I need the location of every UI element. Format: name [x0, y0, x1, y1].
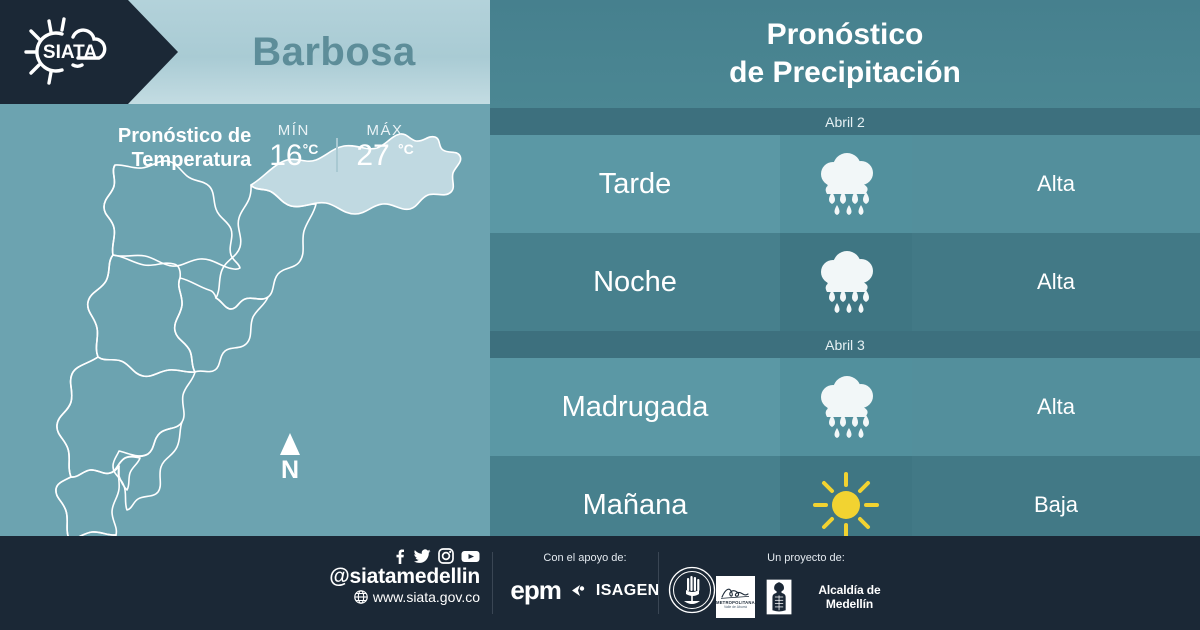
- area-metropolitana-logo: METROPOLITANA Valle de Aburrá: [716, 576, 755, 618]
- project-block: Un proyecto de: METROPOLITANA Valle de A…: [716, 552, 896, 619]
- universidad-de-medellin-seal: [668, 566, 716, 614]
- probability-label: Alta: [912, 135, 1200, 233]
- forecast-title-line2: de Precipitación: [729, 56, 961, 89]
- city-title: Barbosa: [178, 0, 490, 104]
- temperature-max-unit: °C: [398, 141, 414, 157]
- alcaldia-emblem-icon: [765, 575, 793, 619]
- probability-label: Alta: [912, 233, 1200, 331]
- isagen-mark-icon: [571, 583, 586, 598]
- forecast-title-line1: Pronóstico: [767, 18, 924, 51]
- forecast-row-tarde[interactable]: Tarde: [490, 135, 1200, 233]
- forecast-title: Pronóstico de Precipitación: [490, 0, 1200, 108]
- temperature-max-value: 27 °C: [356, 139, 413, 172]
- left-panel: SIATA Barbosa Pronóstico de Temperatura …: [0, 0, 490, 536]
- alcaldia-label: Alcaldía de Medellín: [803, 583, 896, 611]
- map-region-bello: [88, 255, 195, 376]
- temperature-max-label: MÁX: [356, 122, 413, 139]
- social-icons: [300, 548, 480, 564]
- svg-text:SIATA: SIATA: [43, 42, 97, 63]
- website-row[interactable]: www.siata.gov.co: [300, 589, 480, 605]
- amva-line2: Valle de Aburrá: [724, 605, 747, 609]
- period-label: Tarde: [490, 135, 780, 233]
- forecast-row-noche[interactable]: Noche: [490, 233, 1200, 331]
- footer-divider-1: [492, 552, 493, 614]
- twitter-icon[interactable]: [414, 548, 431, 564]
- support-block: Con el apoyo de: epm ISAGEN: [500, 552, 670, 606]
- map-region-itagui: [56, 466, 119, 536]
- temperature-min-value: 16°C: [269, 139, 318, 172]
- temperature-min-label: MÍN: [269, 122, 318, 139]
- map-region-copacabana: [175, 278, 268, 372]
- project-caption: Un proyecto de:: [716, 552, 896, 564]
- date-band-day1: Abril 2: [490, 108, 1200, 135]
- rain-cloud-icon: [780, 358, 912, 456]
- infographic-root: SIATA Barbosa Pronóstico de Temperatura …: [0, 0, 1200, 630]
- footer-divider-2: [658, 552, 659, 614]
- isagen-logo: ISAGEN: [596, 582, 660, 600]
- temperature-min-unit: °C: [303, 141, 319, 157]
- social-handle[interactable]: @siatamedellin: [300, 565, 480, 589]
- date-band-day2: Abril 3: [490, 331, 1200, 358]
- globe-icon: [354, 590, 368, 604]
- instagram-icon[interactable]: [438, 548, 454, 564]
- temperature-summary: Pronóstico de Temperatura MÍN 16°C MÁX 2…: [0, 116, 490, 188]
- map-region-medellin: [57, 357, 195, 477]
- temperature-max: MÁX 27 °C: [356, 116, 413, 172]
- temperature-title-line1: Pronóstico de: [118, 125, 251, 147]
- map-region-envigado: [113, 422, 182, 510]
- forecast-panel: Pronóstico de Precipitación Abril 2 Tard…: [490, 0, 1200, 536]
- facebook-icon[interactable]: [391, 548, 407, 564]
- period-label: Noche: [490, 233, 780, 331]
- youtube-icon[interactable]: [461, 548, 480, 564]
- forecast-row-madrugada[interactable]: Madrugada: [490, 358, 1200, 456]
- probability-label: Alta: [912, 358, 1200, 456]
- rain-cloud-icon: [780, 135, 912, 233]
- temperature-min: MÍN 16°C: [269, 116, 318, 172]
- website-url: www.siata.gov.co: [373, 589, 480, 605]
- rain-cloud-icon: [780, 233, 912, 331]
- compass-label: N: [281, 456, 299, 484]
- temperature-title: Pronóstico de Temperatura: [76, 116, 251, 173]
- compass-north: N: [280, 433, 300, 484]
- period-label: Madrugada: [490, 358, 780, 456]
- epm-logo: epm: [510, 575, 560, 606]
- temperature-divider: [336, 138, 338, 172]
- sun-cloud-icon: SIATA: [16, 12, 126, 92]
- map-region-west-boundary: [34, 255, 113, 536]
- support-caption: Con el apoyo de:: [500, 552, 670, 564]
- social-block: @siatamedellin www.siata.gov.co: [300, 548, 480, 605]
- temperature-title-line2: Temperatura: [132, 149, 252, 171]
- area-script-icon: [720, 585, 750, 600]
